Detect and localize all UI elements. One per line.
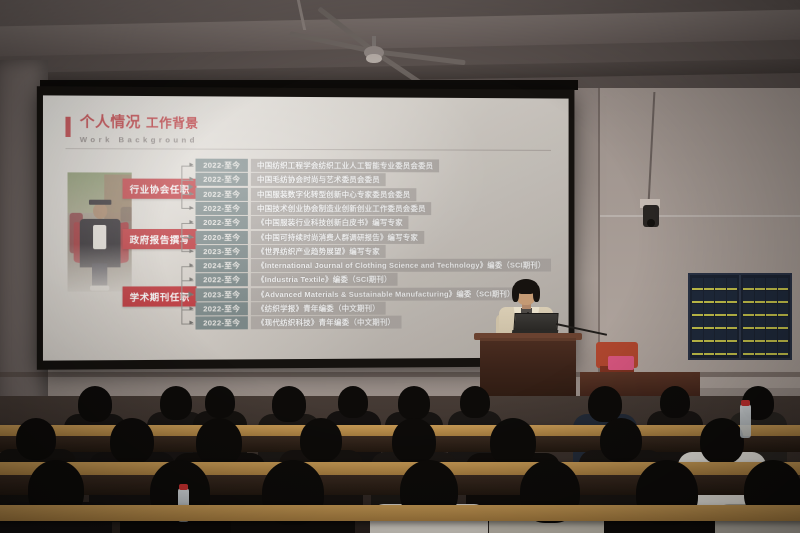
- key-slot: [743, 317, 754, 329]
- row-date: 2023-至今: [196, 288, 248, 301]
- key-slot: [778, 278, 789, 290]
- audience-head: [600, 418, 642, 462]
- category-label: 学术期刊任职: [123, 286, 197, 306]
- tree-tick: [189, 220, 193, 224]
- row-text: 《纺织学报》青年编委（中文期刊）: [251, 302, 386, 316]
- key-slot: [704, 304, 715, 316]
- arrow-icon: [188, 184, 193, 190]
- key-slot: [727, 291, 738, 303]
- key-slot: [727, 330, 738, 342]
- audience-head: [160, 386, 192, 420]
- key-slot: [692, 278, 703, 290]
- key-slot: [715, 317, 726, 329]
- bottle-cap: [741, 400, 750, 406]
- desk-object: [608, 356, 634, 370]
- audience-head: [205, 386, 235, 418]
- audience-head: [272, 386, 306, 422]
- wall-seam: [600, 215, 800, 217]
- key-slot: [743, 278, 754, 290]
- tree-tick: [189, 249, 193, 253]
- audience-head: [460, 386, 490, 418]
- key-slot: [704, 291, 715, 303]
- key-slot: [715, 278, 726, 290]
- audience-head: [338, 386, 368, 418]
- key-slot: [743, 304, 754, 316]
- key-rack-board: [688, 273, 792, 360]
- key-slot: [704, 278, 715, 290]
- audience-head: [392, 418, 436, 464]
- row-text: 《中国服装行业科技创新白皮书》编写专家: [251, 216, 409, 229]
- key-slot: [755, 343, 766, 355]
- audience-head: [490, 418, 536, 466]
- row-text: 中国技术创业协会制造业创新创业工作委员会委员: [251, 202, 432, 215]
- key-slot: [766, 317, 777, 329]
- timeline-row: 2023-至今《Advanced Materials & Sustainable…: [196, 287, 521, 301]
- timeline-row: 2022-至今中国毛纺协会时尚与艺术委员会委员: [196, 173, 386, 186]
- key-slot: [743, 291, 754, 303]
- timeline-row: 2024-至今《International Journal of Clothin…: [196, 259, 552, 273]
- audience-head: [78, 386, 112, 422]
- row-text: 《世界纺织产业趋势展望》编写专家: [251, 245, 386, 258]
- row-text: 《Industria Textile》编委（SCI期刊）: [251, 273, 398, 286]
- key-slot: [766, 330, 777, 342]
- tree-tick: [189, 263, 193, 267]
- timeline-row: 2022-至今《中国服装行业科技创新白皮书》编写专家: [196, 216, 409, 229]
- tree-tick: [189, 177, 193, 181]
- podium: [480, 338, 576, 400]
- key-slot: [766, 291, 777, 303]
- row-date: 2022-至今: [196, 302, 248, 315]
- row-date: 2022-至今: [196, 173, 248, 186]
- key-slot: [704, 317, 715, 329]
- category-label: 行业协会任职: [123, 179, 197, 199]
- row-date: 2022-至今: [196, 216, 248, 229]
- key-slot: [727, 343, 738, 355]
- key-slot: [727, 304, 738, 316]
- key-slot: [692, 330, 703, 342]
- row-date: 2022-至今: [196, 274, 248, 287]
- audience-head: [398, 386, 430, 420]
- audience-head: [16, 418, 56, 460]
- row-date: 2022-至今: [196, 202, 248, 215]
- title-divider: [65, 148, 551, 151]
- desk-row: [0, 505, 800, 521]
- timeline-row: 2023-至今《世界纺织产业趋势展望》编写专家: [196, 245, 386, 258]
- tree-tick: [189, 278, 193, 282]
- audience-head: [700, 418, 744, 464]
- tree-bracket: [181, 165, 182, 208]
- key-slot: [778, 304, 789, 316]
- key-slot: [743, 343, 754, 355]
- timeline-row: 2022-至今《现代纺织科技》青年编委（中文期刊）: [196, 316, 402, 330]
- key-slot: [766, 304, 777, 316]
- tree-tick: [189, 306, 193, 310]
- wall-camera-icon: [643, 205, 659, 227]
- key-slot: [727, 317, 738, 329]
- title-accent-bar: [65, 117, 70, 137]
- row-text: 《现代纺织科技》青年编委（中文期刊）: [251, 316, 401, 330]
- title-primary: 个人情况: [80, 115, 141, 131]
- timeline-row: 2022-至今《纺织学报》青年编委（中文期刊）: [196, 302, 386, 316]
- row-text: 《Advanced Materials & Sustainable Manufa…: [251, 287, 521, 301]
- key-slot: [715, 304, 726, 316]
- row-text: 中国纺织工程学会纺织工业人工智能专业委员会委员: [251, 159, 439, 173]
- audience-head: [110, 418, 154, 464]
- row-text: 中国毛纺协会时尚与艺术委员会委员: [251, 173, 386, 186]
- row-text: 《中国可持续时尚消费人群调研报告》编写专家: [251, 230, 424, 243]
- audience-head: [588, 386, 622, 422]
- key-slot: [692, 304, 703, 316]
- timeline-row: 2022-至今《Industria Textile》编委（SCI期刊）: [196, 273, 398, 286]
- key-slot: [778, 291, 789, 303]
- audience-head: [300, 418, 342, 462]
- tree-tick: [189, 235, 193, 239]
- slide-subtitle: Work Background: [80, 135, 199, 145]
- key-slot: [755, 330, 766, 342]
- projection-screen: 个人情况工作背景 Work Background 行业协会任职: [43, 95, 569, 360]
- key-slot: [692, 343, 703, 355]
- timeline-row: 2020-至今《中国可持续时尚消费人群调研报告》编写专家: [196, 230, 424, 243]
- key-slot: [755, 304, 766, 316]
- timeline-row: 2022-至今中国纺织工程学会纺织工业人工智能专业委员会委员: [196, 159, 440, 173]
- tree-tick: [189, 321, 193, 325]
- row-date: 2022-至今: [196, 187, 248, 200]
- key-slot: [715, 291, 726, 303]
- row-text: 《International Journal of Clothing Scien…: [251, 259, 551, 272]
- tree-tick: [189, 206, 193, 210]
- key-slot: [727, 278, 738, 290]
- row-text: 中国服装数字化转型创新中心专家委员会委员: [251, 187, 416, 200]
- key-slot: [755, 291, 766, 303]
- tree-tick: [189, 163, 193, 167]
- audience-head: [660, 386, 690, 418]
- audience-head: [196, 418, 242, 466]
- bottle-cap: [179, 484, 188, 490]
- key-slot: [692, 291, 703, 303]
- row-date: 2022-至今: [196, 317, 248, 330]
- slide-title-text: 个人情况工作背景: [80, 116, 199, 132]
- category-labels: 行业协会任职政府报告撰写学术期刊任职: [43, 95, 569, 98]
- water-bottle: [740, 404, 751, 438]
- key-slot: [715, 330, 726, 342]
- key-slot: [766, 278, 777, 290]
- title-secondary: 工作背景: [146, 116, 199, 130]
- timeline-row: 2022-至今中国技术创业协会制造业创新创业工作委员会委员: [196, 202, 432, 215]
- presentation-slide: 个人情况工作背景 Work Background 行业协会任职: [43, 95, 569, 360]
- row-date: 2020-至今: [196, 231, 248, 244]
- tree-tick: [189, 191, 193, 195]
- key-slot: [692, 317, 703, 329]
- key-slot: [715, 343, 726, 355]
- key-slot: [778, 330, 789, 342]
- slide-title: 个人情况工作背景 Work Background: [65, 116, 198, 145]
- row-date: 2022-至今: [196, 159, 248, 172]
- key-slot: [755, 317, 766, 329]
- key-slot: [704, 343, 715, 355]
- key-slot: [766, 343, 777, 355]
- tree-tick: [189, 292, 193, 296]
- key-slot: [743, 330, 754, 342]
- row-date: 2024-至今: [196, 259, 248, 272]
- timeline-row: 2022-至今中国服装数字化转型创新中心专家委员会委员: [196, 187, 417, 200]
- key-slot: [704, 330, 715, 342]
- presenter-laptop: [513, 313, 558, 331]
- key-slot: [778, 343, 789, 355]
- category-label: 政府报告撰写: [123, 229, 197, 249]
- key-slot: [778, 317, 789, 329]
- connector-tree: [43, 95, 569, 98]
- key-slot: [755, 278, 766, 290]
- timeline-rows: 2022-至今中国纺织工程学会纺织工业人工智能专业委员会委员2022-至今中国毛…: [43, 95, 569, 98]
- lecture-hall-photo: 个人情况工作背景 Work Background 行业协会任职: [0, 0, 800, 533]
- row-date: 2023-至今: [196, 245, 248, 258]
